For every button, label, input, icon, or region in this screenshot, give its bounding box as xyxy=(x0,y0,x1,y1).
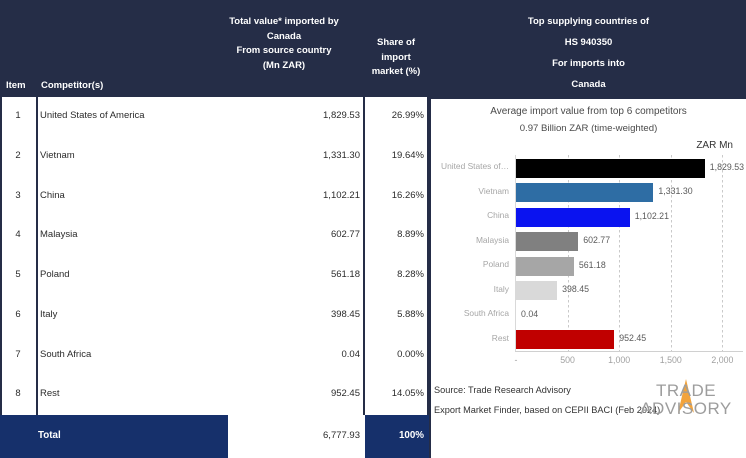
cell-value: 0.04 xyxy=(232,349,360,360)
chart-bar[interactable] xyxy=(516,208,630,227)
chart-header-line4: Canada xyxy=(431,78,746,93)
chart-bar[interactable] xyxy=(516,183,653,202)
source-line-2: Export Market Finder, based on CEPII BAC… xyxy=(434,405,660,415)
cell-item: 4 xyxy=(0,229,36,240)
cell-share: 26.99% xyxy=(368,110,424,121)
cell-share: 5.88% xyxy=(368,309,424,320)
cell-item: 7 xyxy=(0,349,36,360)
chart-category-row: Malaysia602.77 xyxy=(431,230,746,255)
chart-bar-value-label: 602.77 xyxy=(583,235,610,245)
cell-value: 561.18 xyxy=(232,269,360,280)
column-header-share-line1: Share of xyxy=(366,36,426,51)
column-header-item: Item xyxy=(6,79,36,94)
cell-value: 952.45 xyxy=(232,388,360,399)
cell-value: 398.45 xyxy=(232,309,360,320)
table-column-divider xyxy=(363,97,365,415)
chart-category-row: Italy398.45 xyxy=(431,279,746,304)
logo-text-advisory: ADVISORY xyxy=(640,399,732,418)
chart-header-line1: Top supplying countries of xyxy=(431,15,746,30)
chart-unit-label: ZAR Mn xyxy=(696,140,733,151)
total-value: 6,777.93 xyxy=(232,430,360,441)
chart-title: Average import value from top 6 competit… xyxy=(431,106,746,117)
chart-category-label: China xyxy=(431,210,509,220)
total-share: 100% xyxy=(368,430,424,441)
column-header-total-value-line1: Total value* imported by xyxy=(205,15,363,30)
column-header-share: Share of import market (%) xyxy=(366,36,426,80)
chart-bar-value-label: 398.45 xyxy=(562,284,589,294)
chart-bar[interactable] xyxy=(516,330,614,349)
column-header-total-value-line2: Canada xyxy=(205,30,363,45)
chart-bar-value-label: 952.45 xyxy=(619,333,646,343)
chart-header-line2: HS 940350 xyxy=(431,36,746,51)
chart-bar-value-label: 561.18 xyxy=(579,260,606,270)
chart-x-tick: 2,000 xyxy=(711,355,733,365)
chart-category-row: China1,102.21 xyxy=(431,205,746,230)
chart-x-tick-labels: -5001,0001,5002,000 xyxy=(431,355,746,371)
chart-category-label: Italy xyxy=(431,284,509,294)
cell-share: 14.05% xyxy=(368,388,424,399)
chart-bar-value-label: 1,331.30 xyxy=(658,186,692,196)
chart-category-label: South Africa xyxy=(431,308,509,318)
cell-competitor: Poland xyxy=(40,269,220,280)
cell-competitor: Malaysia xyxy=(40,229,220,240)
table-header: Item Competitor(s) Total value* imported… xyxy=(0,0,429,97)
cell-share: 8.89% xyxy=(368,229,424,240)
chart-category-label: Rest xyxy=(431,333,509,343)
table-column-divider xyxy=(427,97,429,415)
chart-category-label: Malaysia xyxy=(431,235,509,245)
chart-category-row: Poland561.18 xyxy=(431,254,746,279)
cell-competitor: South Africa xyxy=(40,349,220,360)
chart-header-line3: For imports into xyxy=(431,57,746,72)
report-canvas: Item Competitor(s) Total value* imported… xyxy=(0,0,746,458)
table-column-divider xyxy=(0,97,2,415)
bar-chart-panel: Average import value from top 6 competit… xyxy=(431,99,746,458)
column-header-competitor: Competitor(s) xyxy=(41,79,201,94)
chart-plot-area: United States of…1,829.53Vietnam1,331.30… xyxy=(431,155,746,371)
cell-item: 2 xyxy=(0,150,36,161)
chart-bar-value-label: 1,829.53 xyxy=(710,162,744,172)
column-header-total-value: Total value* imported by Canada From sou… xyxy=(205,15,363,73)
chart-category-label: Poland xyxy=(431,259,509,269)
cell-value: 602.77 xyxy=(232,229,360,240)
chart-category-label: United States of… xyxy=(431,161,509,171)
chart-bar[interactable] xyxy=(516,232,578,251)
chart-category-row: United States of…1,829.53 xyxy=(431,156,746,181)
logo-text-trade: TRADE xyxy=(656,381,716,400)
chart-subtitle: 0.97 Billion ZAR (time-weighted) xyxy=(431,123,746,134)
cell-competitor: Rest xyxy=(40,388,220,399)
chart-x-tick: 1,000 xyxy=(608,355,630,365)
chart-bar[interactable] xyxy=(516,159,705,178)
chart-bar[interactable] xyxy=(516,281,557,300)
chart-bar[interactable] xyxy=(516,257,574,276)
cell-value: 1,331.30 xyxy=(232,150,360,161)
cell-competitor: Vietnam xyxy=(40,150,220,161)
table-column-divider xyxy=(36,97,38,415)
cell-share: 16.26% xyxy=(368,190,424,201)
column-header-total-value-line3: From source country xyxy=(205,44,363,59)
column-header-total-value-line4: (Mn ZAR) xyxy=(205,59,363,74)
column-header-share-line2: import xyxy=(366,51,426,66)
source-line-1: Source: Trade Research Advisory xyxy=(434,385,571,395)
imports-table-panel: Item Competitor(s) Total value* imported… xyxy=(0,0,429,458)
chart-category-label: Vietnam xyxy=(431,186,509,196)
table-body: 1United States of America1,829.5326.99%2… xyxy=(0,97,429,415)
cell-item: 3 xyxy=(0,190,36,201)
chart-bar-value-label: 0.04 xyxy=(521,309,538,319)
cell-item: 1 xyxy=(0,110,36,121)
chart-bar-value-label: 1,102.21 xyxy=(635,211,669,221)
total-label: Total xyxy=(38,430,61,441)
cell-item: 6 xyxy=(0,309,36,320)
trade-advisory-logo: TRADE ADVISORY xyxy=(634,376,738,420)
cell-competitor: China xyxy=(40,190,220,201)
cell-share: 8.28% xyxy=(368,269,424,280)
column-header-share-line3: market (%) xyxy=(366,65,426,80)
cell-competitor: United States of America xyxy=(40,110,220,121)
cell-share: 19.64% xyxy=(368,150,424,161)
chart-category-row: South Africa0.04 xyxy=(431,303,746,328)
chart-category-row: Rest952.45 xyxy=(431,328,746,353)
cell-competitor: Italy xyxy=(40,309,220,320)
cell-item: 8 xyxy=(0,388,36,399)
cell-item: 5 xyxy=(0,269,36,280)
chart-x-tick: 1,500 xyxy=(660,355,682,365)
cell-share: 0.00% xyxy=(368,349,424,360)
chart-x-tick: - xyxy=(515,355,518,365)
chart-panel-header: Top supplying countries of HS 940350 For… xyxy=(431,0,746,97)
table-total-row: Total 6,777.93 100% xyxy=(0,415,429,458)
cell-value: 1,102.21 xyxy=(232,190,360,201)
chart-x-tick: 500 xyxy=(560,355,575,365)
cell-value: 1,829.53 xyxy=(232,110,360,121)
chart-category-row: Vietnam1,331.30 xyxy=(431,181,746,206)
